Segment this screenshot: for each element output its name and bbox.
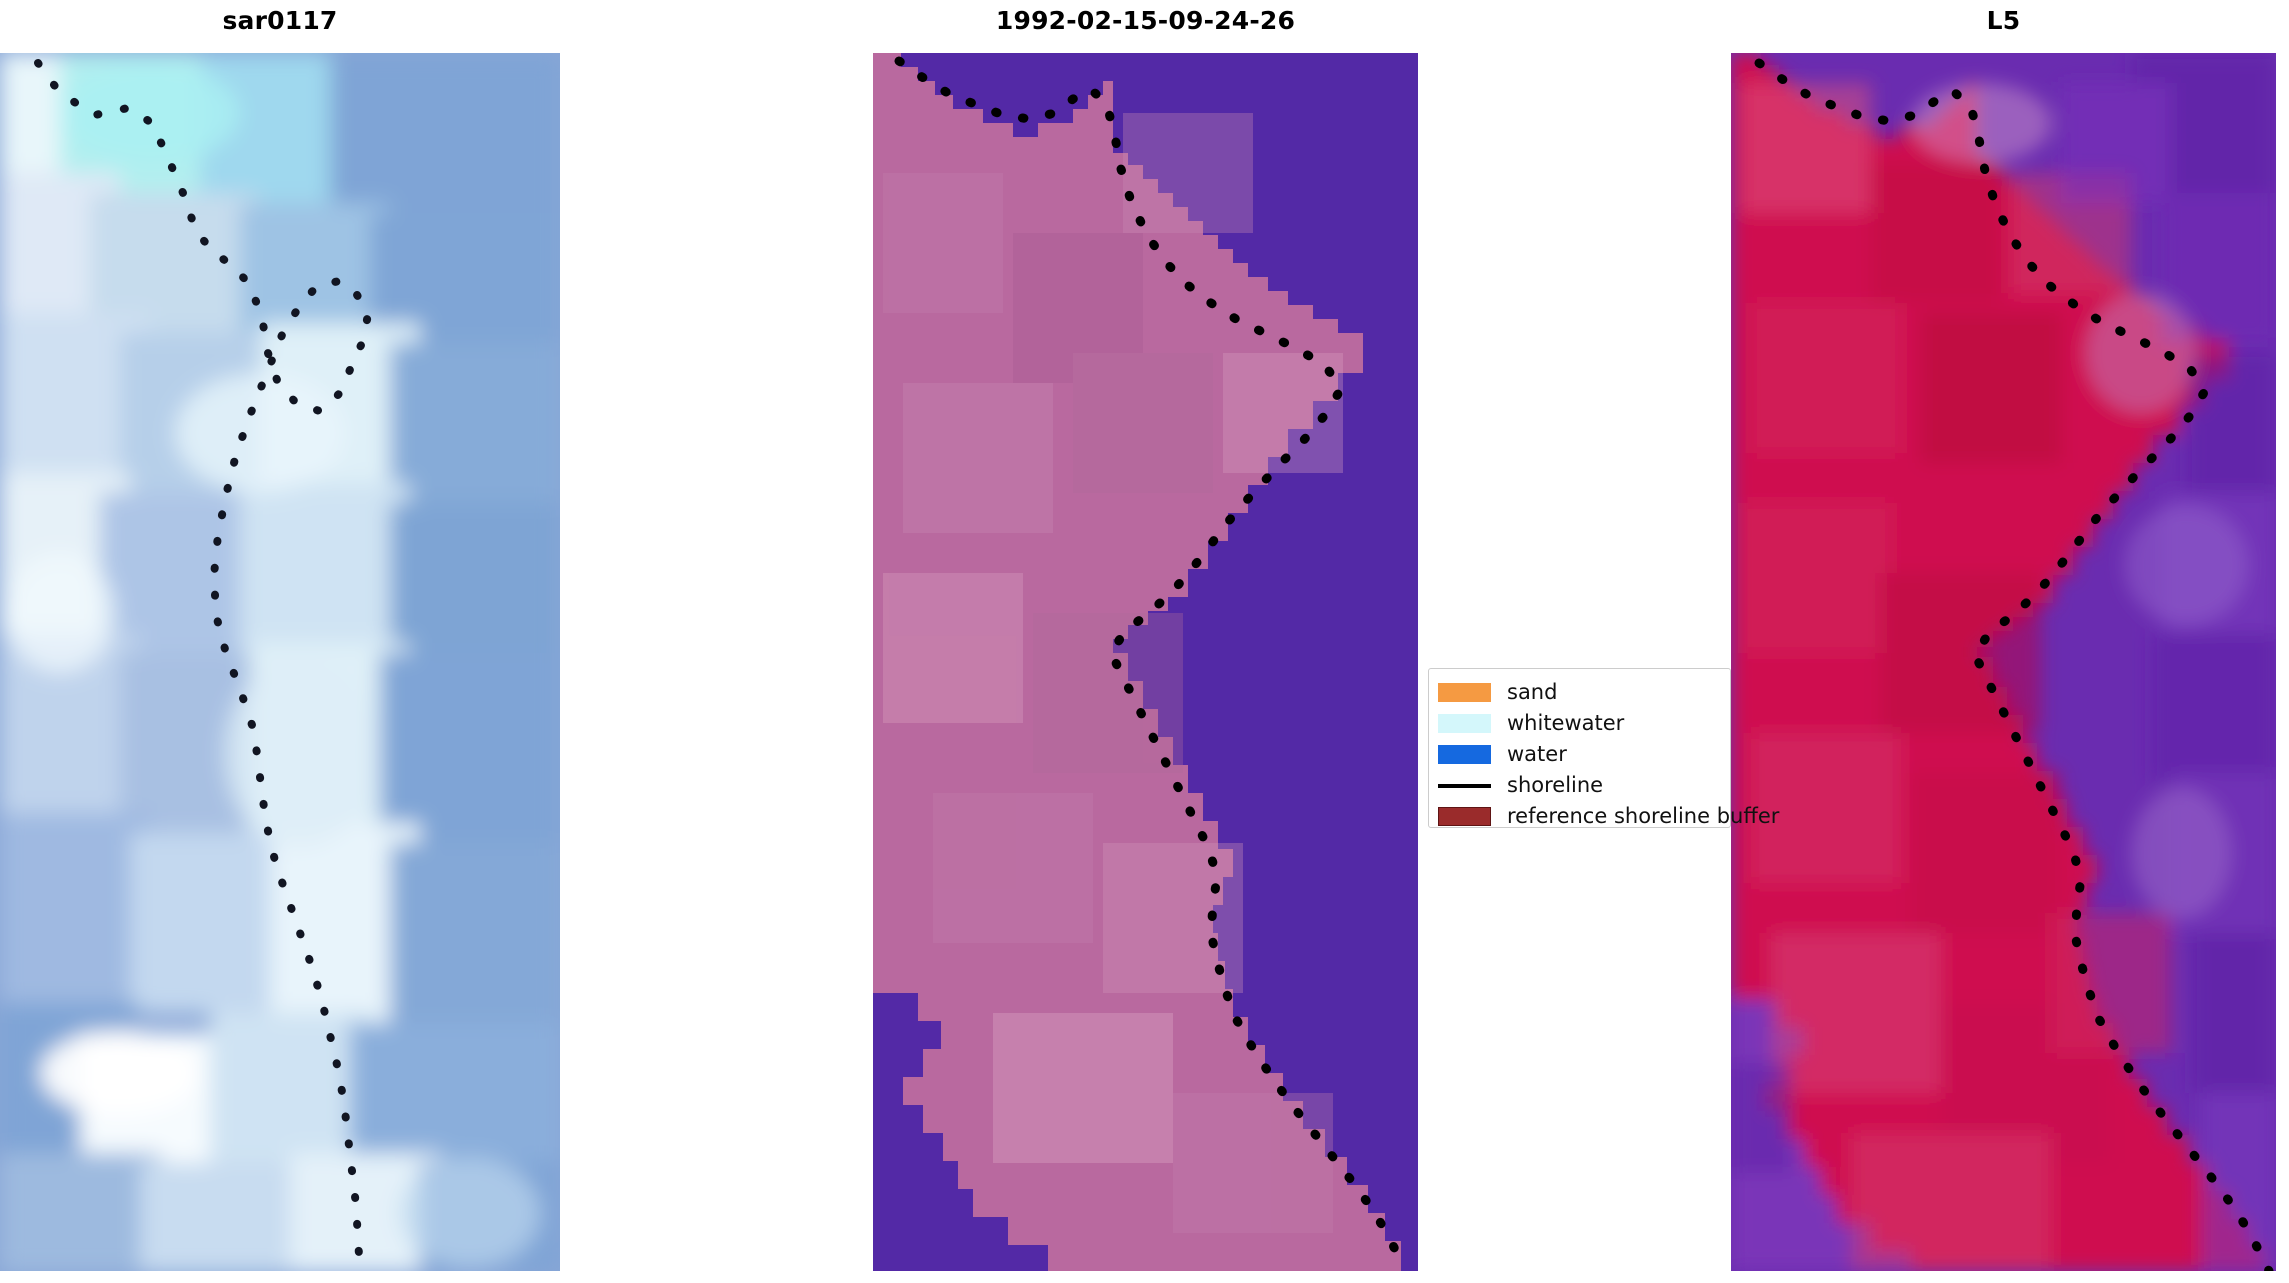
legend-label-shoreline: shoreline [1507,775,1603,796]
legend-item-whitewater[interactable]: whitewater [1438,708,1720,739]
shoreline-line-swatch [1438,776,1491,795]
sar-raster [0,53,560,1271]
classified-image [873,53,1418,1271]
legend-label-water: water [1507,744,1567,765]
panel-classified[interactable] [873,53,1418,1271]
reference-shoreline-buffer-color-swatch [1438,807,1491,826]
panel-title-l5: L5 [1731,8,2276,33]
legend-label-sand: sand [1507,682,1557,703]
panel-sar0117[interactable] [0,53,560,1271]
legend-item-sand[interactable]: sand [1438,677,1720,708]
panel-title-sar0117: sar0117 [0,8,560,33]
sar-image [0,53,560,1271]
l5-image [1731,53,2276,1271]
sand-color-swatch [1438,683,1491,702]
water-color-swatch [1438,745,1491,764]
legend-item-reference-shoreline-buffer[interactable]: reference shoreline buffer [1438,801,1720,832]
panel-title-classified: 1992-02-15-09-24-26 [873,8,1418,33]
legend[interactable]: sand whitewater water shoreline referenc… [1428,668,1731,828]
legend-item-water[interactable]: water [1438,739,1720,770]
panel-l5[interactable] [1731,53,2276,1271]
legend-label-reference-shoreline-buffer: reference shoreline buffer [1507,806,1779,827]
l5-raster [1731,53,2276,1271]
whitewater-color-swatch [1438,714,1491,733]
classified-raster [873,53,1418,1271]
legend-item-shoreline[interactable]: shoreline [1438,770,1720,801]
legend-label-whitewater: whitewater [1507,713,1624,734]
figure-canvas: sar0117 [0,0,2289,1283]
